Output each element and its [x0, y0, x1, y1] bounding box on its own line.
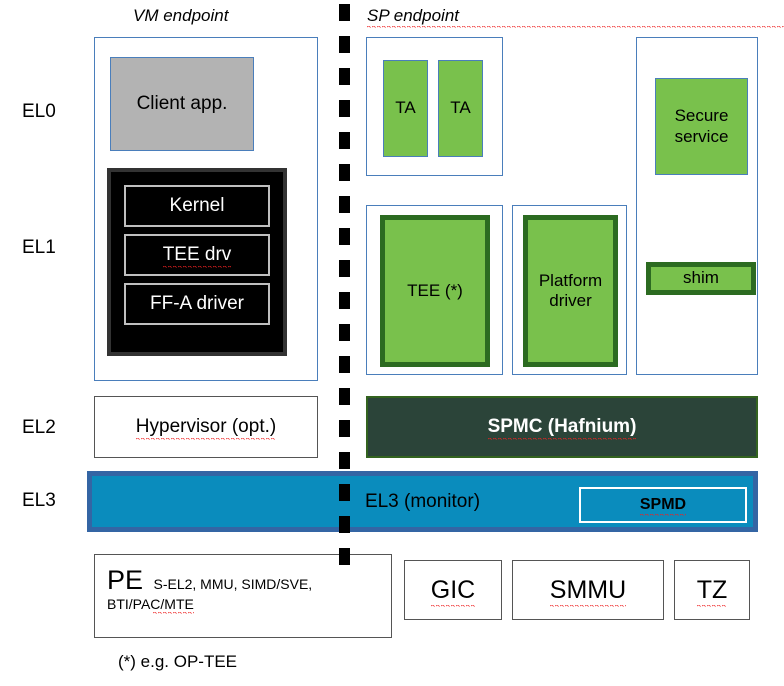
tee-drv-box[interactable]: TEE drv	[124, 234, 270, 276]
kernel-box[interactable]: Kernel	[124, 185, 270, 227]
world-divider-dash	[339, 484, 350, 501]
ffa-driver-box[interactable]: FF-A driver	[124, 283, 270, 325]
ta-box-2[interactable]: TA	[438, 60, 483, 157]
world-divider-dash	[339, 516, 350, 533]
sp-endpoint-tee-el1: TEE (*)	[366, 205, 503, 375]
spmc-label: SPMC (Hafnium)	[488, 416, 637, 438]
hypervisor-box[interactable]: Hypervisor (opt.)	[94, 396, 318, 458]
world-divider-dash	[339, 420, 350, 437]
client-app-box[interactable]: Client app.	[110, 57, 254, 151]
tz-box[interactable]: TZ	[674, 560, 750, 620]
platform-driver-box[interactable]: Platform driver	[523, 215, 618, 367]
kernel-label: Kernel	[170, 195, 225, 217]
spmd-label: SPMD	[640, 496, 686, 514]
tee-box[interactable]: TEE (*)	[380, 215, 490, 367]
secure-service-label: Secure service	[656, 106, 747, 146]
world-divider-dash	[339, 4, 350, 21]
pe-box[interactable]: PE S-EL2, MMU, SIMD/SVE, BTI/PAC/MTE	[94, 554, 392, 638]
client-app-label: Client app.	[137, 93, 228, 115]
el-label-el1: EL1	[22, 237, 56, 259]
el3-monitor-label: EL3 (monitor)	[365, 491, 480, 513]
pe-label: PE	[107, 565, 143, 595]
world-divider-dash	[339, 324, 350, 341]
gic-box[interactable]: GIC	[404, 560, 502, 620]
world-divider-dash	[339, 68, 350, 85]
vm-endpoint-container: Client app. Kernel TEE drv FF-A driver	[94, 37, 318, 381]
sp-endpoint-secure-service: Secure service shim	[636, 37, 758, 375]
el-label-el3: EL3	[22, 490, 56, 512]
tee-label: TEE (*)	[407, 281, 463, 301]
sp-endpoint-tee-el0: TA TA	[366, 37, 503, 176]
architecture-diagram: VM endpoint SP endpoint EL0 EL1 EL2 EL3 …	[0, 0, 784, 686]
smmu-label: SMMU	[550, 576, 626, 605]
sp-endpoint-platform-driver: Platform driver	[512, 205, 627, 375]
shim-label: shim	[683, 268, 719, 288]
world-divider-dash	[339, 388, 350, 405]
os-stack-container: Kernel TEE drv FF-A driver	[107, 168, 287, 356]
world-divider-dash	[339, 132, 350, 149]
secure-service-box[interactable]: Secure service	[655, 78, 748, 175]
shim-box[interactable]: shim	[646, 262, 756, 295]
sp-endpoint-title: SP endpoint	[367, 6, 784, 26]
world-divider-dash	[339, 292, 350, 309]
hypervisor-label: Hypervisor (opt.)	[136, 416, 276, 438]
world-divider-dash	[339, 100, 350, 117]
world-divider-dash	[339, 36, 350, 53]
el-label-el2: EL2	[22, 417, 56, 439]
smmu-box[interactable]: SMMU	[512, 560, 664, 620]
world-divider-dash	[339, 228, 350, 245]
world-divider-dash	[339, 548, 350, 565]
world-divider-dash	[339, 356, 350, 373]
world-divider-dash	[339, 452, 350, 469]
el-label-el0: EL0	[22, 101, 56, 123]
world-divider-dash	[339, 196, 350, 213]
ta-label-2: TA	[450, 98, 470, 118]
vm-endpoint-title: VM endpoint	[133, 6, 228, 26]
spmc-box[interactable]: SPMC (Hafnium)	[366, 396, 758, 458]
world-divider-dash	[339, 260, 350, 277]
spmd-box[interactable]: SPMD	[579, 487, 747, 523]
platform-driver-label: Platform driver	[528, 271, 613, 311]
tz-label: TZ	[697, 576, 728, 605]
ta-label-1: TA	[395, 98, 415, 118]
footnote-optee: (*) e.g. OP-TEE	[118, 652, 237, 672]
gic-label: GIC	[431, 576, 475, 605]
tee-drv-label: TEE drv	[163, 244, 232, 266]
world-divider-dash	[339, 164, 350, 181]
el3-monitor-bar[interactable]: EL3 (monitor) SPMD	[87, 471, 758, 532]
ta-box-1[interactable]: TA	[383, 60, 428, 157]
ffa-driver-label: FF-A driver	[150, 293, 244, 315]
